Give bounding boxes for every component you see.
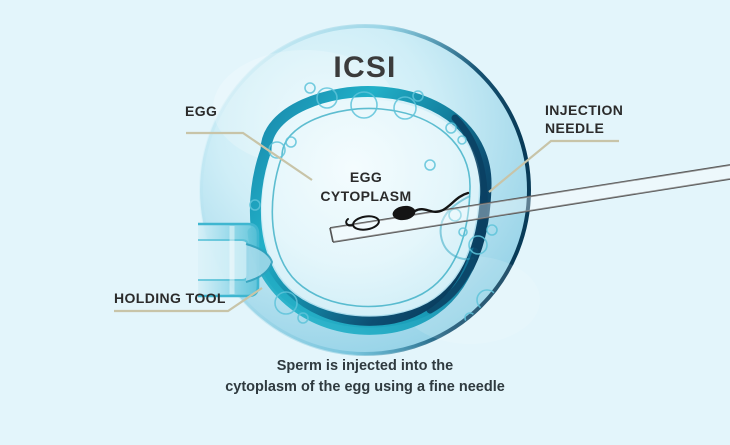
label-injection-needle-line1: INJECTION	[545, 102, 623, 118]
label-egg: EGG	[185, 103, 217, 120]
label-egg-cytoplasm-line1: EGG	[350, 169, 382, 185]
page-title: ICSI	[0, 50, 730, 85]
label-egg-cytoplasm-line2: CYTOPLASM	[320, 188, 411, 204]
label-injection-needle: INJECTIONNEEDLE	[545, 101, 623, 137]
label-holding-tool: HOLDING TOOL	[114, 290, 226, 307]
icsi-diagram-canvas: ICSI EGG INJECTIONNEEDLE HOLDING TOOL EG…	[0, 0, 730, 445]
label-injection-needle-line2: NEEDLE	[545, 120, 604, 136]
caption-line1: Sperm is injected into the	[277, 358, 453, 374]
diagram-caption: Sperm is injected into thecytoplasm of t…	[0, 356, 730, 398]
caption-line2: cytoplasm of the egg using a fine needle	[225, 379, 505, 395]
label-egg-cytoplasm: EGGCYTOPLASM	[303, 168, 429, 206]
holding-tool-bore	[198, 240, 248, 280]
